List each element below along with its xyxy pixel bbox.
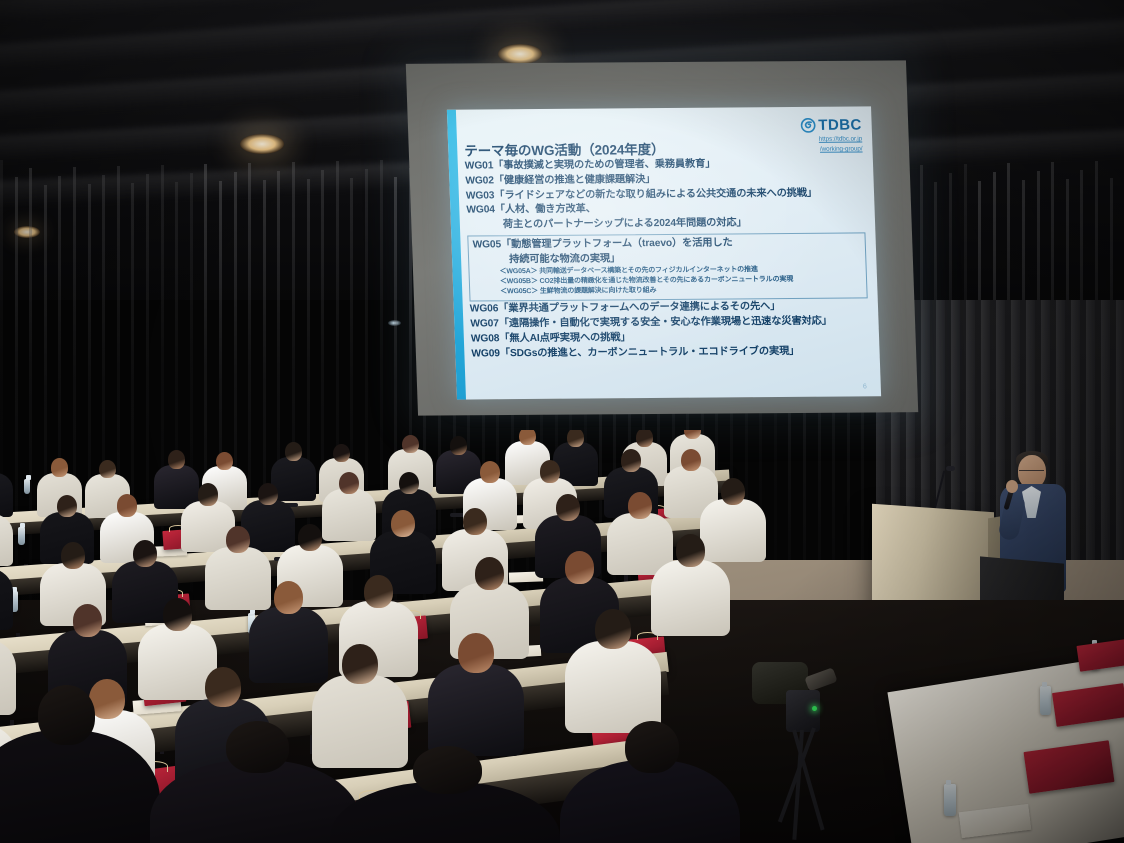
slide-title: テーマ毎のWG活動（2024年度） (464, 138, 665, 160)
audience-head (339, 472, 359, 494)
audience-head (258, 483, 278, 505)
audience-head (73, 604, 102, 637)
wg-item: WG07「遠隔操作・自動化で実現する安全・安心な作業現場と迅速な災害対応」 (470, 314, 869, 332)
wg-text: 「SDGsの推進と、カーボンニュートラル・エコドライブの実現」 (500, 346, 800, 359)
foreground-attendee-head (625, 721, 679, 773)
audience-head (205, 667, 241, 707)
audience-torso (0, 473, 13, 516)
audience-head (99, 460, 116, 479)
audience-torso (249, 607, 328, 683)
wg-text: 「人材、働き方改革、 (495, 204, 596, 216)
audience-head (51, 458, 68, 477)
water-bottle (24, 479, 30, 494)
audience-head (285, 442, 302, 461)
audience-head (402, 435, 419, 454)
water-bottle (944, 784, 956, 816)
audience-head (519, 430, 536, 445)
audience-head (364, 575, 393, 608)
audience-head (342, 644, 378, 684)
water-bottle (18, 527, 25, 545)
wg-code: WG05 (472, 239, 501, 250)
audience-head (540, 460, 560, 482)
tdbc-url-line2: /working-group/ (801, 145, 863, 153)
audience-torso (565, 641, 661, 733)
projection-screen: TDBC https://tdbc.or.jp /working-group/ … (447, 106, 881, 399)
wg-code: WG06 (470, 304, 499, 315)
wg-text: 「遠隔操作・自動化で実現する安全・安心な作業現場と迅速な災害対応」 (499, 316, 832, 330)
audience-head (298, 524, 322, 551)
audience-head (628, 492, 652, 519)
foreground-attendee-head (413, 746, 482, 794)
audience-head (450, 436, 467, 455)
audience-head (57, 495, 77, 517)
audience-torso (312, 675, 408, 767)
wg-item: WG09「SDGsの推進と、カーボンニュートラル・エコドライブの実現」 (471, 344, 870, 362)
audience-head (595, 609, 631, 649)
wg-text: 「無人AI点呼実現への挑戦」 (499, 332, 630, 344)
wg-code: WG03 (466, 190, 495, 201)
wg-code: WG01 (465, 160, 494, 171)
audience-head (399, 472, 419, 494)
wg05-subitem: ＜WG05C＞ 生鮮物流の課題解決に向けた取り組み (474, 285, 862, 298)
audience-head (676, 534, 705, 567)
audience-head (198, 483, 218, 505)
audience-torso (205, 547, 270, 609)
wg-item-continuation: 荷主とのパートナーシップによる2024年問題の対応」 (467, 216, 866, 234)
audience-head (463, 508, 487, 535)
wg-code: WG07 (470, 318, 499, 329)
audience-head (216, 452, 233, 471)
foreground-attendee-head (226, 721, 289, 773)
audience-torso (700, 499, 765, 561)
audience-head (681, 449, 701, 471)
audience-head (458, 633, 494, 673)
slide-page-number: 6 (863, 383, 867, 390)
tdbc-brand-text: TDBC (818, 116, 862, 133)
tdbc-logo-block: TDBC https://tdbc.or.jp /working-group/ (800, 116, 863, 153)
foreground-attendee-head (38, 685, 95, 745)
tdbc-swirl-logo-icon (800, 118, 816, 133)
audience-head (333, 444, 350, 463)
audience-head (274, 581, 303, 614)
audience-head (475, 557, 504, 590)
audience-torso (322, 489, 376, 541)
ceiling-downlight (498, 44, 542, 64)
audience-head (391, 510, 415, 537)
audience-head (565, 551, 594, 584)
conference-photo-scene: TDBC https://tdbc.or.jp /working-group/ … (0, 0, 1124, 843)
audience-head (133, 540, 157, 567)
water-bottle (1040, 686, 1051, 715)
audience-head (61, 542, 85, 569)
wg-text: 「業界共通プラットフォームへのデータ連携によるその先へ」 (498, 301, 780, 314)
audience-head (621, 449, 641, 471)
audience-head (226, 526, 250, 553)
audience-head (168, 450, 185, 469)
wg-text: 「事故撲滅と実現のための管理者、乗務員教育」 (493, 159, 715, 172)
wg-text: 「ライドシェアなどの新たな取り組みによる公共交通の未来への挑戦」 (494, 187, 817, 201)
wg-item-list: WG01「事故撲滅と実現のための管理者、乗務員教育」 WG02「健康経営の推進と… (465, 156, 870, 361)
slide-content: TDBC https://tdbc.or.jp /working-group/ … (461, 112, 875, 397)
wg-code: WG08 (471, 333, 500, 344)
wg-code: WG02 (465, 175, 494, 186)
camera-record-led (812, 706, 817, 711)
audience-head (480, 461, 500, 483)
audience-torso (428, 664, 524, 756)
audience-head (163, 598, 192, 631)
audience-head (636, 430, 653, 447)
audience-head (567, 430, 584, 447)
audience-head (117, 494, 137, 516)
audience-head (556, 494, 580, 521)
wg-code: WG04 (466, 205, 495, 216)
wg05-boxed-group: WG05「動態管理プラットフォーム（traevo）を活用した 持続可能な物流の実… (467, 232, 867, 301)
audience-torso (651, 560, 730, 636)
wg-code: WG09 (471, 348, 500, 359)
wg-text: 「健康経営の推進と健康課題解決」 (494, 174, 656, 186)
tdbc-url-line1: https://tdbc.or.jp (801, 135, 863, 143)
audience-head (721, 478, 745, 505)
video-camera-body (786, 690, 820, 732)
wg-text: 「動態管理プラットフォーム（traevo）を活用した (501, 237, 733, 250)
